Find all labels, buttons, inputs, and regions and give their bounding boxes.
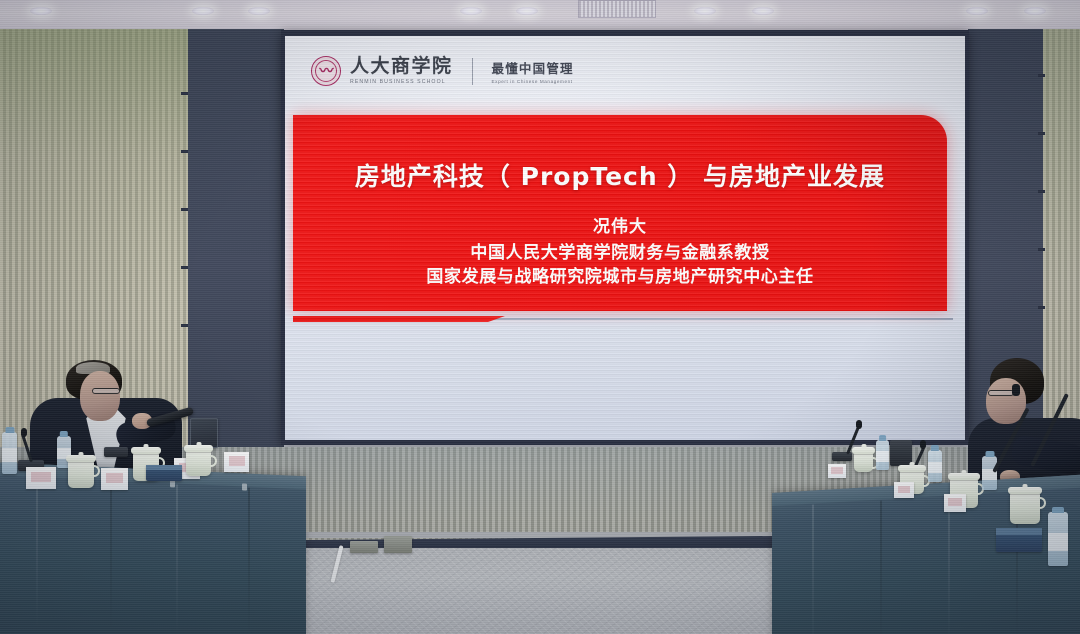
wall-bracket <box>1038 306 1045 309</box>
bottle-cap <box>60 431 68 437</box>
bottle-cap <box>985 451 994 457</box>
slide-subtitle-block: 况伟大 中国人民大学商学院财务与金融系教授 国家发展与战略研究院城市与房地产研究… <box>426 215 813 290</box>
name-card-strip <box>831 467 843 473</box>
tissue-box-top <box>996 528 1042 535</box>
conference-photo-scene: 〰 人大商学院 RENMIN BUSINESS SCHOOL 最懂中国管理 Ex… <box>0 0 1080 634</box>
bottle-label <box>876 451 889 461</box>
floor-equipment-box <box>350 541 378 553</box>
ceiling <box>0 0 1080 30</box>
teacup-knob <box>962 470 967 474</box>
brand-tagline-en: Expert in Chinese Management <box>492 79 574 84</box>
brand-name-block: 人大商学院 RENMIN BUSINESS SCHOOL <box>350 57 453 85</box>
water-bottle <box>876 440 889 470</box>
teacup <box>854 452 873 472</box>
teacup-knob <box>79 452 84 456</box>
ceiling-downlight <box>248 7 270 15</box>
name-card-strip <box>106 473 123 483</box>
slide-rule-red <box>293 316 505 322</box>
wall-bracket <box>181 208 188 211</box>
brand-divider <box>472 58 473 85</box>
bottle-cap <box>5 427 14 433</box>
bottle-label <box>1048 533 1068 551</box>
name-card-strip <box>948 498 962 506</box>
name-card-strip <box>229 456 245 465</box>
ceiling-downlight <box>694 7 716 15</box>
teacup <box>186 450 211 476</box>
presenter-affiliation-line-2: 国家发展与战略研究院城市与房地产研究中心主任 <box>426 265 813 290</box>
laptop <box>190 418 218 448</box>
teacup <box>1010 492 1040 524</box>
teacup-lid <box>66 455 96 462</box>
slide-red-banner: 房地产科技（ PropTech ） 与房地产业发展 况伟大 中国人民大学商学院财… <box>293 115 947 311</box>
brand-name-cn: 人大商学院 <box>350 57 453 77</box>
teacup-knob <box>1023 484 1028 488</box>
wall-bracket <box>1038 248 1045 251</box>
teacup <box>68 460 94 488</box>
bottle-cap <box>879 435 887 441</box>
water-bottle <box>1048 512 1068 566</box>
wall-bracket <box>181 266 188 269</box>
wall-bracket <box>1038 132 1045 135</box>
bottle-label <box>928 462 942 473</box>
gooseneck-microphone-head <box>920 440 926 449</box>
slide-title: 房地产科技（ PropTech ） 与房地产业发展 <box>355 157 885 193</box>
brand-tagline-cn: 最懂中国管理 <box>492 58 574 77</box>
speaker-left-head <box>80 371 120 421</box>
teacup-lid <box>948 473 980 480</box>
gooseneck-microphone-base <box>104 447 128 457</box>
seal-glyph: 〰 <box>320 61 333 81</box>
wall-bracket <box>1038 74 1045 77</box>
brand-name-en: RENMIN BUSINESS SCHOOL <box>350 79 453 85</box>
ceiling-downlight <box>966 7 988 15</box>
name-card-tent <box>26 467 56 489</box>
slide-accent-rule <box>293 316 953 324</box>
gooseneck-microphone-base <box>890 440 912 466</box>
water-bottle <box>2 432 17 474</box>
tablecloth-fold <box>948 496 950 634</box>
water-bottle <box>982 456 997 490</box>
teacup-knob <box>910 462 915 466</box>
tablecloth-clip <box>242 483 247 490</box>
presenter-name: 况伟大 <box>426 215 813 241</box>
wall-bracket <box>1038 190 1045 193</box>
name-card-tent <box>828 464 846 478</box>
tablecloth-fold <box>110 481 112 631</box>
ceiling-downlight <box>30 7 52 15</box>
renmin-university-seal-icon: 〰 <box>311 56 341 86</box>
brand-tagline-block: 最懂中国管理 Expert in Chinese Management <box>492 58 574 84</box>
floor-equipment-box <box>384 536 412 553</box>
wall-dark-panel-left <box>188 29 284 459</box>
brand-lockup: 〰 人大商学院 RENMIN BUSINESS SCHOOL 最懂中国管理 Ex… <box>311 56 574 86</box>
ceiling-downlight <box>752 7 774 15</box>
ceiling-downlight <box>1024 7 1046 15</box>
ceiling-downlight <box>516 7 538 15</box>
bottle-label <box>2 448 17 462</box>
bottle-cap <box>931 445 939 451</box>
gooseneck-microphone-head <box>856 420 862 429</box>
teacup-knob <box>144 444 149 448</box>
teacup-lid <box>852 447 875 454</box>
tissue-box <box>996 528 1042 552</box>
presentation-slide: 〰 人大商学院 RENMIN BUSINESS SCHOOL 最懂中国管理 Ex… <box>285 36 965 440</box>
air-vent-grille-icon <box>578 0 656 18</box>
tablecloth-fold <box>36 478 38 628</box>
wall-bracket <box>181 150 188 153</box>
teacup-knob <box>861 444 866 448</box>
gooseneck-microphone-head <box>1012 384 1020 396</box>
speaker-left-glasses <box>92 388 120 394</box>
tablecloth-fold <box>176 484 178 634</box>
teacup-lid <box>184 445 213 452</box>
tissue-box <box>146 465 182 481</box>
tablecloth-fold <box>812 505 814 634</box>
teacup-lid <box>898 465 926 472</box>
teacup-knob <box>196 442 201 446</box>
ceiling-downlight <box>460 7 482 15</box>
name-card-tent <box>101 468 128 490</box>
name-card-strip <box>31 472 50 482</box>
presenter-affiliation-line-1: 中国人民大学商学院财务与金融系教授 <box>426 241 813 266</box>
teacup-lid <box>1008 487 1042 494</box>
gooseneck-microphone-head <box>21 428 27 437</box>
tablecloth-fold <box>880 500 882 634</box>
teacup-lid <box>131 447 161 454</box>
tissue-box-top <box>146 465 182 470</box>
name-card-tent <box>944 494 966 512</box>
tablecloth-clip <box>170 480 175 487</box>
wall-bracket <box>181 92 188 95</box>
name-card-tent <box>894 482 914 498</box>
bottle-cap <box>1052 507 1064 513</box>
tablecloth-fold <box>248 488 250 634</box>
name-card-tent <box>224 452 249 472</box>
panelist-right-glasses <box>988 390 1014 396</box>
ceiling-downlight <box>192 7 214 15</box>
name-card-strip <box>898 486 911 493</box>
water-bottle <box>928 450 942 482</box>
wall-bracket <box>181 324 188 327</box>
wall-slat-panel-right <box>1043 29 1080 449</box>
